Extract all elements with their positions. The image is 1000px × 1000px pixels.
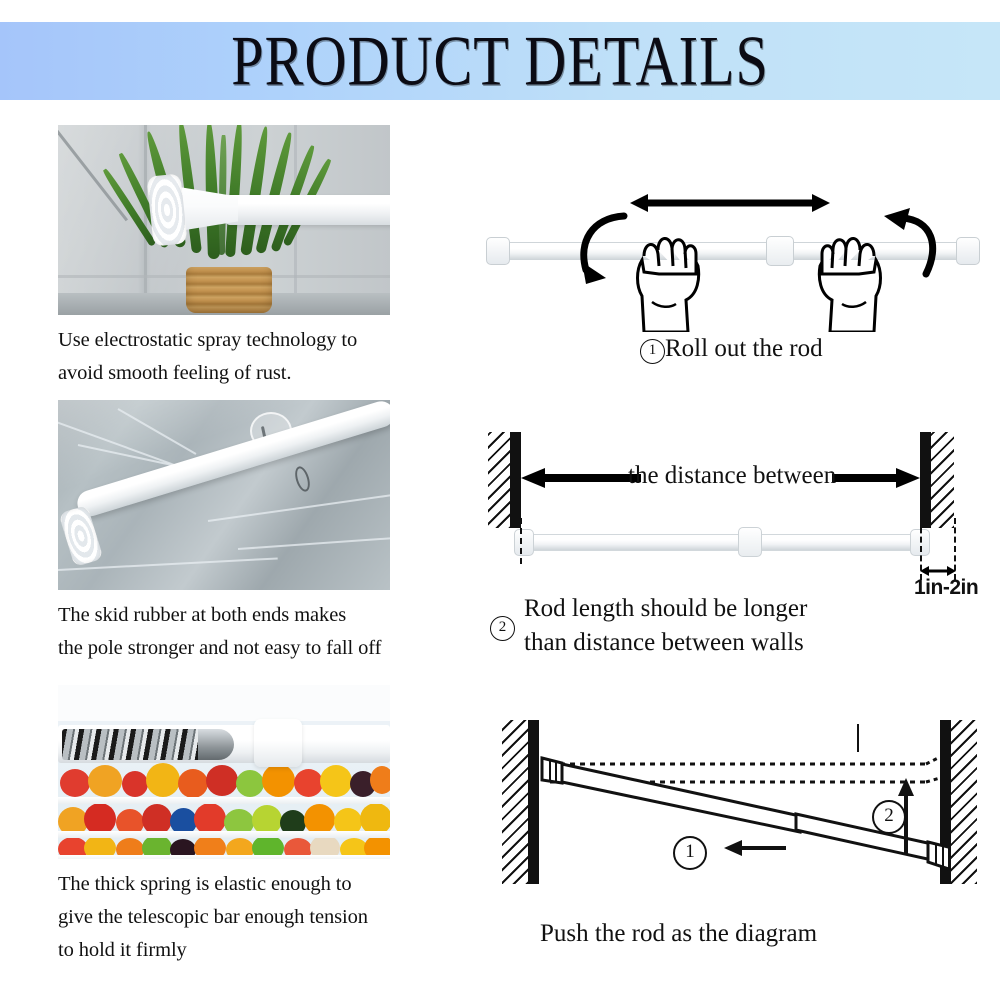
step-1-caption-text: Roll out the rod — [665, 335, 823, 362]
wall-right-hatching — [931, 432, 954, 528]
rod-joint-collar — [738, 527, 762, 557]
wall-left-hatching — [488, 432, 511, 528]
step-roll-out-rod: 1Roll out the rod — [480, 172, 1000, 365]
features-column: Use electrostatic spray technology to av… — [0, 112, 470, 1000]
step-2-caption: 2 Rod length should be longer than dista… — [480, 592, 1000, 660]
curtain-rod-body — [226, 195, 390, 225]
rope-plant-pot — [186, 267, 272, 313]
marker-2-badge: 2 — [872, 800, 906, 834]
tile-grout-line — [144, 125, 147, 315]
feature-block-thick-spring: The thick spring is elastic enough to gi… — [58, 685, 390, 967]
caption-line: avoid smooth feeling of rust. — [58, 357, 458, 390]
caption-line: give the telescopic bar enough tension — [58, 901, 458, 934]
instructions-column: 1Roll out the rod — [480, 112, 1000, 1000]
feature-photo-skid-rubber — [58, 400, 390, 590]
distance-between-label: the distance between — [628, 462, 836, 490]
feature-photo-thick-spring — [58, 685, 390, 859]
caption-line: Use electrostatic spray technology to — [58, 324, 458, 357]
feature-block-electrostatic-spray: Use electrostatic spray technology to av… — [58, 125, 390, 390]
rod-end-cap — [146, 173, 187, 246]
step-2-figure: the distance between 1in-2in — [480, 422, 1000, 592]
step-3-figure: 1 2 — [480, 712, 1000, 907]
step-number-badge: 2 — [490, 616, 515, 641]
step-measure-distance: the distance between 1in-2in 2 — [480, 422, 1000, 660]
caption-line: The thick spring is elastic enough to — [58, 868, 458, 901]
rod-end-cap-right — [956, 237, 980, 265]
telescopic-rod — [520, 534, 922, 551]
fridge-shelf — [58, 831, 390, 838]
fridge-shelf — [58, 855, 390, 859]
rod-end-cap-left — [486, 237, 510, 265]
step-2-caption-line: than distance between walls — [524, 626, 1000, 660]
header-banner: PRODUCT DETAILS — [0, 22, 1000, 100]
fruit-row — [58, 763, 390, 801]
wall-right-hatching — [951, 720, 977, 884]
caption-line: The skid rubber at both ends makes — [58, 599, 458, 632]
feature-caption-skid-rubber: The skid rubber at both ends makes the p… — [58, 599, 458, 665]
feature-block-skid-rubber: The skid rubber at both ends makes the p… — [58, 400, 390, 665]
internal-spring — [62, 729, 208, 760]
wall-left — [510, 432, 521, 528]
marker-1-badge: 1 — [673, 836, 707, 870]
step-2-caption-line: Rod length should be longer — [524, 592, 1000, 626]
step-3-caption-text: Push the rod as the diagram — [540, 920, 817, 947]
caption-line: to hold it firmly — [58, 934, 458, 967]
caption-line: the pole stronger and not easy to fall o… — [58, 632, 458, 665]
fridge-shelf — [58, 797, 390, 804]
wall-right — [920, 432, 931, 528]
feature-photo-electrostatic-spray — [58, 125, 390, 315]
wall-left-hatching — [502, 720, 528, 884]
extend-arrow-icon — [630, 194, 830, 212]
step-1-figure — [480, 172, 1000, 332]
step-3-caption: Push the rod as the diagram — [480, 907, 1000, 950]
step-1-caption: 1Roll out the rod — [480, 332, 1000, 365]
feature-caption-electrostatic-spray: Use electrostatic spray technology to av… — [58, 324, 458, 390]
page-title: PRODUCT DETAILS — [231, 26, 769, 97]
rod-adjustment-collar — [254, 719, 302, 767]
distance-arrow-right-icon — [832, 468, 920, 488]
distance-arrow-left-icon — [521, 468, 641, 488]
product-details-infographic: PRODUCT DETAILS — [0, 0, 1000, 1000]
fridge-ceiling — [58, 685, 390, 721]
hand-right-icon — [810, 216, 890, 332]
hand-left-icon — [628, 216, 708, 332]
step-push-rod: 1 2 Push the rod as the diagram — [480, 712, 1000, 950]
step-number-badge: 1 — [640, 339, 665, 364]
rotate-arrow-left-icon — [572, 208, 634, 290]
rod-joint-collar — [766, 236, 794, 266]
dimension-guide-left — [520, 518, 522, 564]
spring-end-plug — [198, 729, 234, 760]
feature-caption-thick-spring: The thick spring is elastic enough to gi… — [58, 868, 458, 967]
rod-end-cap-left — [514, 529, 534, 556]
